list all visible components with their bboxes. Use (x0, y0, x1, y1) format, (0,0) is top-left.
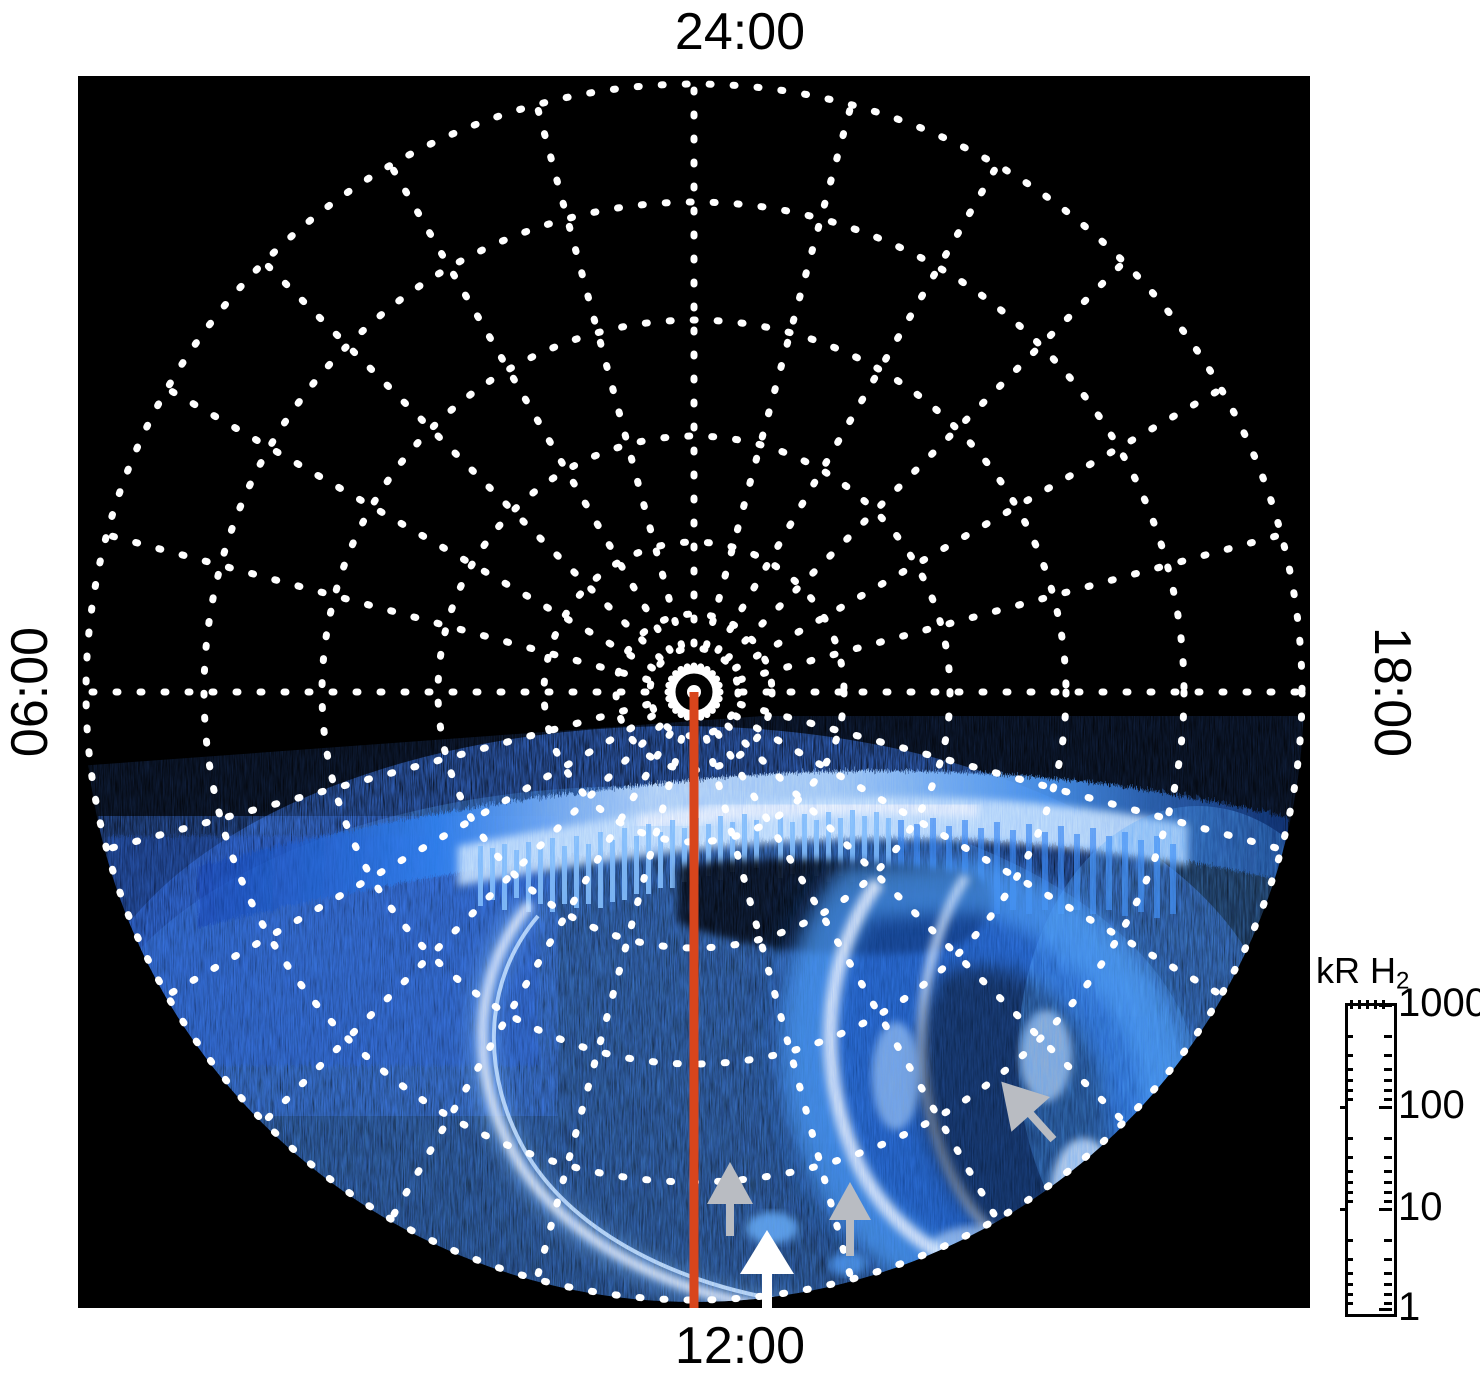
colorbar-minor-tick (1345, 1054, 1353, 1057)
colorbar-minor-tick (1384, 1098, 1392, 1101)
colorbar-minor-tick (1345, 1035, 1353, 1038)
colorbar-minor-tick (1345, 1302, 1353, 1305)
colorbar-minor-tick (1345, 1258, 1353, 1261)
colorbar-minor-tick (1384, 1181, 1392, 1184)
local-time-label-right: 18:00 (1366, 602, 1418, 782)
colorbar-minor-tick (1345, 1079, 1353, 1082)
local-time-label-top: 24:00 (0, 6, 1480, 58)
colorbar-minor-tick (1366, 1000, 1369, 1009)
colorbar-minor-tick (1350, 1000, 1353, 1009)
colorbar-ticklabel-10: 10 (1398, 1187, 1443, 1227)
colorbar-minor-tick (1345, 1283, 1353, 1286)
colorbar-minor-tick (1384, 1170, 1392, 1173)
colorbar-minor-tick (1345, 1068, 1353, 1071)
colorbar-tick-10 (1379, 1208, 1392, 1211)
colorbar-tick-1000 (1379, 1004, 1392, 1007)
figure-root: 24:00 12:00 06:00 18:00 kR H2 (0, 0, 1480, 1384)
colorbar-minor-tick (1345, 1170, 1353, 1173)
colorbar-bar (1345, 1003, 1397, 1317)
polar-image-panel (78, 76, 1310, 1308)
colorbar-minor-tick (1340, 1106, 1348, 1109)
colorbar-minor-tick (1384, 1156, 1392, 1159)
colorbar-tick-100 (1379, 1106, 1392, 1109)
colorbar-minor-tick (1345, 1239, 1353, 1242)
colorbar-minor-tick (1345, 1156, 1353, 1159)
colorbar-minor-tick (1345, 1137, 1353, 1140)
colorbar-minor-tick (1374, 1000, 1377, 1009)
colorbar-minor-tick (1384, 1137, 1392, 1140)
colorbar-minor-tick (1384, 1239, 1392, 1242)
colorbar-title-main: kR H (1316, 950, 1396, 991)
colorbar-minor-tick (1384, 1079, 1392, 1082)
colorbar-ticklabel-1000: 1000 (1398, 983, 1480, 1023)
colorbar-minor-tick (1345, 1098, 1353, 1101)
colorbar-minor-tick (1384, 1089, 1392, 1092)
colorbar-minor-tick (1384, 1258, 1392, 1261)
colorbar-minor-tick (1384, 1191, 1392, 1194)
colorbar-minor-tick (1384, 1293, 1392, 1296)
colorbar-minor-tick (1345, 1181, 1353, 1184)
colorbar-minor-tick (1384, 1035, 1392, 1038)
colorbar-minor-tick (1384, 1302, 1392, 1305)
colorbar-minor-tick (1384, 1283, 1392, 1286)
colorbar-minor-tick (1345, 1293, 1353, 1296)
colorbar-minor-tick (1382, 1000, 1385, 1009)
colorbar-minor-tick (1384, 1200, 1392, 1203)
polar-projection-svg (78, 76, 1310, 1308)
colorbar-minor-tick (1345, 1200, 1353, 1203)
colorbar-minor-tick (1358, 1000, 1361, 1009)
colorbar-title: kR H2 (1316, 950, 1409, 995)
colorbar-minor-tick (1384, 1054, 1392, 1057)
colorbar-tick-1 (1379, 1308, 1392, 1311)
colorbar-ticklabel-1: 1 (1398, 1287, 1420, 1327)
colorbar-minor-tick (1384, 1068, 1392, 1071)
colorbar-minor-tick (1384, 1272, 1392, 1275)
colorbar-minor-tick (1345, 1089, 1353, 1092)
local-time-label-left: 06:00 (4, 602, 56, 782)
colorbar-minor-tick (1345, 1191, 1353, 1194)
colorbar-minor-tick (1340, 1208, 1348, 1211)
colorbar-ticklabel-100: 100 (1398, 1085, 1465, 1125)
colorbar-gradient (1348, 1006, 1394, 1314)
colorbar-minor-tick (1345, 1272, 1353, 1275)
local-time-label-bottom: 12:00 (0, 1320, 1480, 1372)
